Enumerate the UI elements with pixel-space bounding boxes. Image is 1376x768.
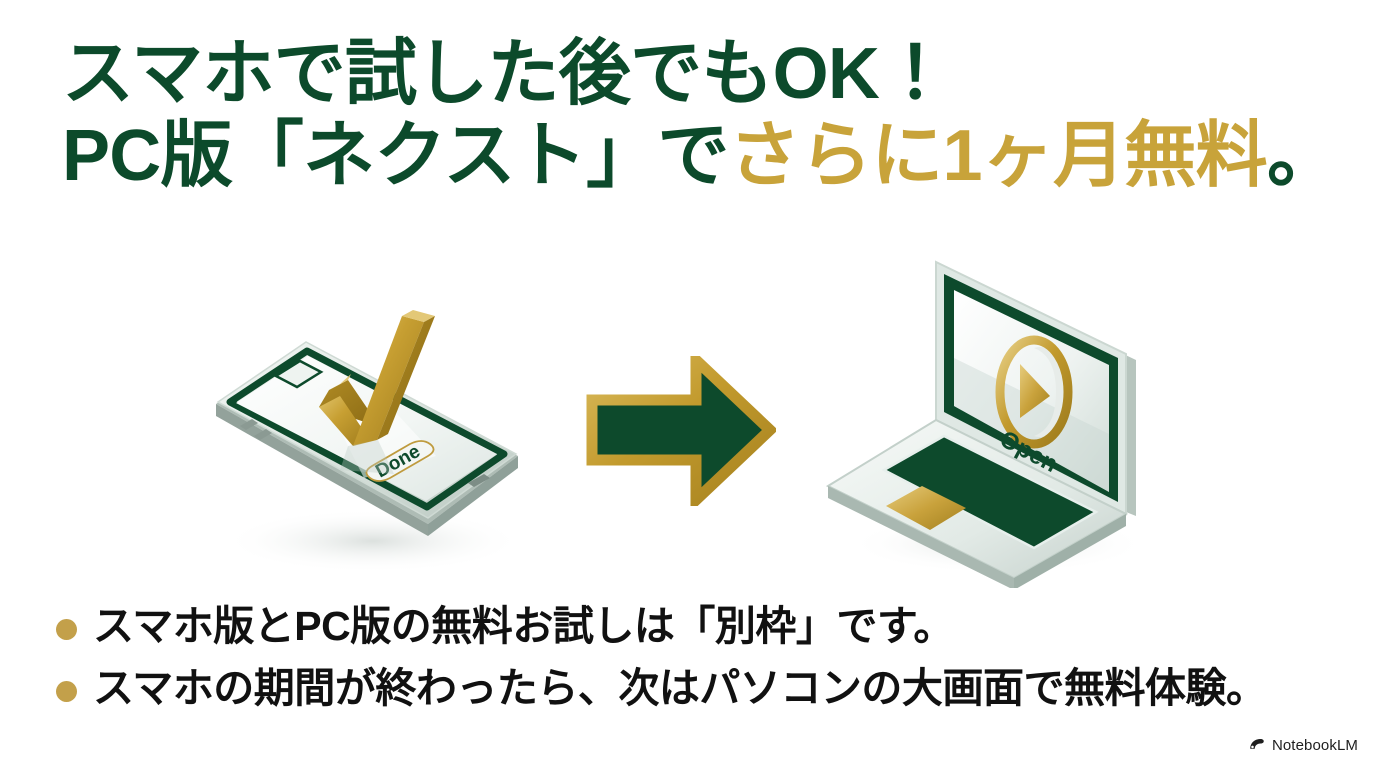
list-item: スマホの期間が終わったら、次はパソコンの大画面で無料体験。 — [56, 658, 1356, 720]
bullet-1-segment-1: スマホ版とPC版の無料お試しは — [93, 603, 674, 649]
headline-block: スマホで試した後でもOK！ PC版「ネクスト」でさらに1ヶ月無料。 — [62, 36, 1352, 195]
illustration-band: Done — [0, 248, 1376, 588]
bullet-1-highlight: 「別枠」 — [674, 604, 836, 650]
laptop-illustration: Open — [818, 248, 1168, 588]
bullet-1-segment-3: です。 — [836, 603, 953, 649]
arrow-svg — [586, 356, 776, 506]
notebooklm-icon — [1248, 736, 1266, 754]
headline-line-1: スマホで試した後でもOK！ — [62, 36, 1352, 112]
bullet-2-segment-1: スマホの期間が終わったら、次は — [93, 665, 699, 711]
bullet-2-text: スマホの期間が終わったら、次はパソコンの大画面で無料体験。 — [93, 666, 1267, 712]
bullet-dot-icon — [56, 681, 77, 702]
bullet-2-segment-2: パソコンの大画面 — [699, 665, 1023, 711]
headline-line-2-green-prefix: PC版「ネクスト」で — [62, 116, 729, 196]
notebooklm-label: NotebookLM — [1272, 737, 1358, 754]
bullet-list: スマホ版とPC版の無料お試しは「別枠」です。 スマホの期間が終わったら、次はパソ… — [56, 596, 1356, 720]
bullet-2-segment-3: で無料体験。 — [1023, 665, 1266, 711]
right-arrow-icon — [592, 360, 770, 500]
bullet-2-highlight: パソコンの大画面 — [699, 666, 1023, 712]
list-item: スマホ版とPC版の無料お試しは「別枠」です。 — [56, 596, 1356, 658]
headline-line-2: PC版「ネクスト」でさらに1ヶ月無料。 — [62, 118, 1352, 194]
laptop-svg: Open — [818, 248, 1168, 588]
slide-root: スマホで試した後でもOK！ PC版「ネクスト」でさらに1ヶ月無料。 — [0, 0, 1376, 768]
notebooklm-watermark: NotebookLM — [1248, 736, 1358, 754]
smartphone-svg: Done — [188, 306, 548, 586]
phone-shadow — [223, 509, 523, 573]
bullet-1-text: スマホ版とPC版の無料お試しは「別枠」です。 — [93, 604, 954, 650]
bullet-1-segment-2: 「別枠」 — [674, 603, 836, 649]
smartphone-illustration: Done — [188, 306, 548, 586]
headline-line-2-gold-emphasis: さらに1ヶ月無料 — [729, 116, 1267, 196]
headline-line-2-green-period: 。 — [1267, 116, 1338, 196]
bullet-dot-icon — [56, 619, 77, 640]
transition-arrow — [586, 356, 776, 506]
